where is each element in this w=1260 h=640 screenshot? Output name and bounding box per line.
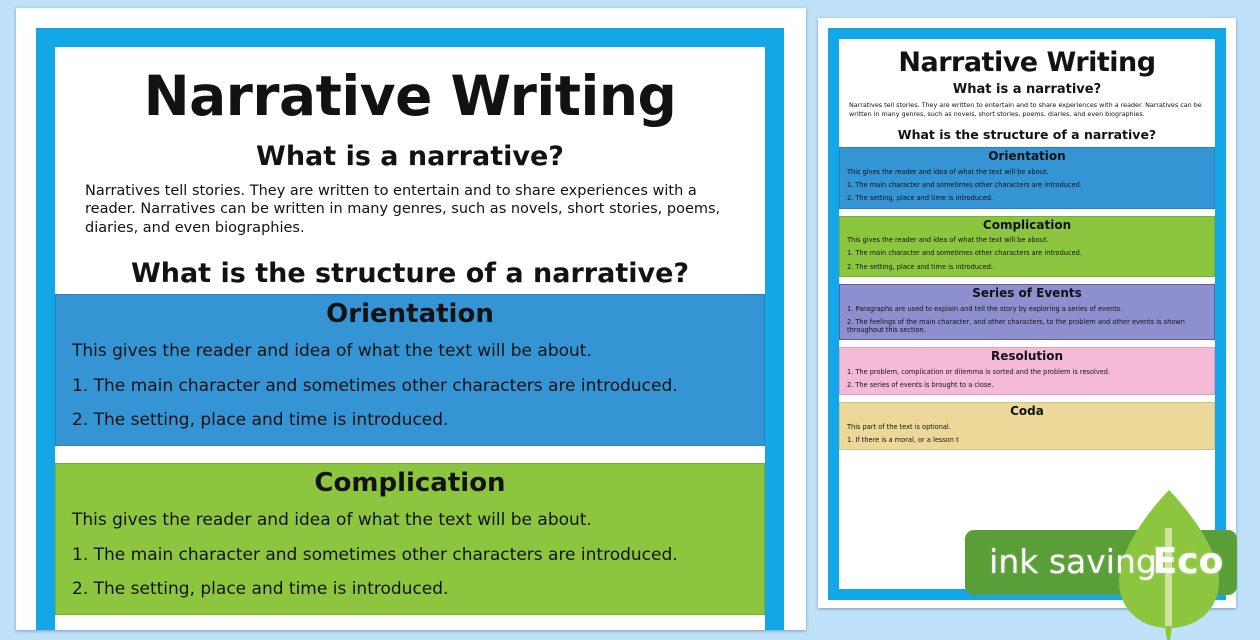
section-line: 1. If there is a moral, or a lesson t [847,436,1207,444]
section-heading: Series of Events [847,287,1207,300]
section-divider [839,395,1215,402]
section-heading: Orientation [847,150,1207,163]
section-line: 1. The main character and sometimes othe… [72,376,748,397]
section-orientation: Orientation This gives the reader and id… [839,147,1215,208]
main-poster-header: Narrative Writing What is a narrative? N… [55,47,765,294]
section-complication: Complication This gives the reader and i… [839,216,1215,277]
section-heading: Resolution [847,350,1207,363]
section-line: 1. Paragraphs are used to explain and te… [847,305,1207,313]
section-line: This part of the text is optional. [847,423,1207,431]
section-divider [55,446,765,463]
section-resolution: Resolution 1. The problem, complication … [839,347,1215,395]
intro-paragraph: Narratives tell stories. They are writte… [83,182,737,238]
question-heading-one: What is a narrative? [849,83,1205,97]
preview-canvas: Narrative Writing What is a narrative? N… [0,0,1260,630]
section-line: This gives the reader and idea of what t… [72,510,748,531]
section-heading: Orientation [72,301,748,328]
eco-label: Eco [1133,541,1243,582]
section-heading: Complication [847,219,1207,232]
question-heading-two: What is the structure of a narrative? [83,259,737,289]
section-divider [839,340,1215,347]
thumbnail-header: Narrative Writing What is a narrative? N… [839,39,1215,147]
section-line: 2. The setting, place and time is introd… [847,263,1207,271]
section-line: This gives the reader and idea of what t… [72,341,748,362]
section-heading: Coda [847,405,1207,418]
main-poster-content: Narrative Writing What is a narrative? N… [55,47,765,630]
intro-paragraph: Narratives tell stories. They are writte… [849,101,1205,118]
section-complication: Complication This gives the reader and i… [55,463,765,615]
section-line: 1. The main character and sometimes othe… [72,545,748,566]
section-divider [839,277,1215,284]
page-title: Narrative Writing [83,69,737,124]
section-line: This gives the reader and idea of what t… [847,168,1207,176]
section-series-of-events: Series of Events 1. Paragraphs are used … [839,284,1215,340]
section-orientation: Orientation This gives the reader and id… [55,294,765,446]
section-coda: Coda This part of the text is optional. … [839,402,1215,450]
section-line: 2. The feelings of the main character, a… [847,318,1207,334]
page-title: Narrative Writing [849,49,1205,76]
section-line: This gives the reader and idea of what t… [847,236,1207,244]
section-heading: Complication [72,470,748,497]
question-heading-one: What is a narrative? [83,142,737,172]
section-divider [55,615,765,630]
section-line: 1. The main character and sometimes othe… [847,181,1207,189]
section-line: 2. The setting, place and time is introd… [847,194,1207,202]
section-line: 2. The setting, place and time is introd… [72,410,748,431]
ink-saving-eco-badge: ink saving Eco [965,530,1247,595]
section-line: 2. The setting, place and time is introd… [72,579,748,600]
section-line: 1. The main character and sometimes othe… [847,249,1207,257]
section-line: 2. The series of events is brought to a … [847,381,1207,389]
section-divider [839,209,1215,216]
section-line: 1. The problem, complication or dilemma … [847,368,1207,376]
question-heading-two: What is the structure of a narrative? [849,128,1205,142]
